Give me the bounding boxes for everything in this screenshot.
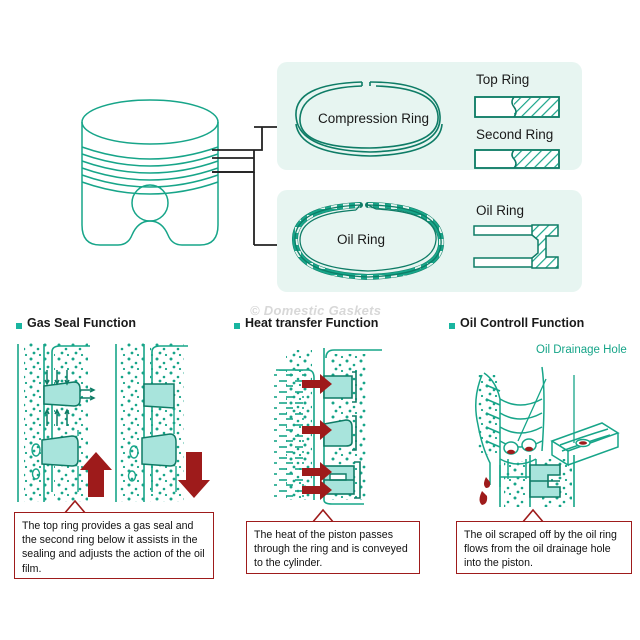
- heat-transfer-illustration: [246, 344, 426, 509]
- header-oil-control-function: Oil Controll Function: [460, 316, 584, 330]
- header-heat-transfer-function: Heat transfer Function: [245, 316, 378, 330]
- bullet-icon-heat-transfer: [234, 323, 240, 329]
- oil-hole-icon: [525, 447, 533, 451]
- oil-ring-section-label: Oil Ring: [476, 203, 524, 218]
- piston-illustration: [70, 95, 230, 265]
- second-ring-label: Second Ring: [476, 127, 553, 142]
- gas-seal-illustration: [14, 342, 214, 507]
- oil-ring-label: Oil Ring: [337, 232, 385, 247]
- caption-oil-control: The oil scraped off by the oil ring flow…: [456, 521, 632, 574]
- top-ring-label: Top Ring: [476, 72, 529, 87]
- oil-control-illustration: [456, 355, 636, 510]
- caption-heat-transfer: The heat of the piston passes through th…: [246, 521, 420, 574]
- bullet-icon-gas-seal: [16, 323, 22, 329]
- oil-ring-section: [472, 222, 564, 272]
- diagram-canvas: Compression Ring Top Ring Second Ring: [0, 0, 640, 640]
- oil-hole-icon: [579, 441, 587, 445]
- compression-ring-label: Compression Ring: [318, 111, 429, 126]
- caption-gas-seal: The top ring provides a gas seal and the…: [14, 512, 214, 579]
- oil-hole-icon: [507, 450, 515, 454]
- oil-droplet-icon: [480, 491, 488, 505]
- header-gas-seal-function: Gas Seal Function: [27, 316, 136, 330]
- second-ring-section: [474, 148, 562, 172]
- oil-droplet-icon: [484, 477, 490, 488]
- top-ring-section: [474, 94, 562, 120]
- bullet-icon-oil-control: [449, 323, 455, 329]
